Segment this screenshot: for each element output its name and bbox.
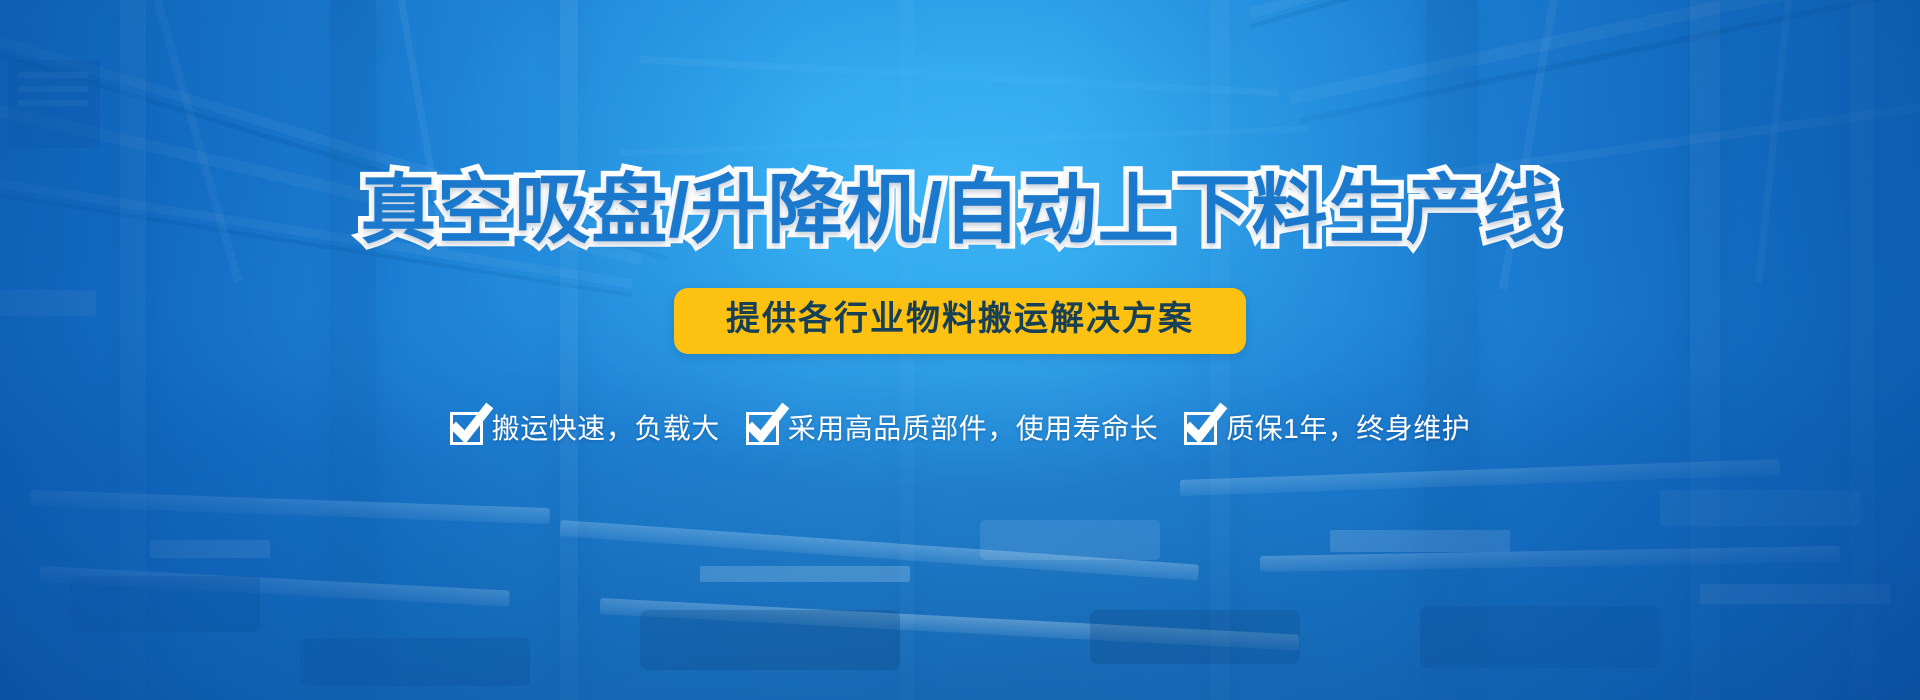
banner-content: 真空吸盘/升降机/自动上下料生产线 提供各行业物料搬运解决方案 搬运快速，负载大 [0,0,1920,700]
banner-subtitle-pill: 提供各行业物料搬运解决方案 [674,288,1246,354]
feature-list: 搬运快速，负载大 采用高品质部件，使用寿命长 质保1年，终身维护 [0,412,1920,445]
feature-label: 搬运快速，负载大 [492,415,720,443]
banner-title: 真空吸盘/升降机/自动上下料生产线 [0,173,1920,249]
checkbox-check-icon [1184,412,1217,445]
banner-subtitle-wrap: 提供各行业物料搬运解决方案 [0,288,1920,354]
checkbox-check-icon [450,412,483,445]
feature-item-1: 搬运快速，负载大 [450,412,720,445]
feature-item-3: 质保1年，终身维护 [1184,412,1470,445]
checkbox-check-icon [746,412,779,445]
hero-banner: 真空吸盘/升降机/自动上下料生产线 提供各行业物料搬运解决方案 搬运快速，负载大 [0,0,1920,700]
feature-label: 质保1年，终身维护 [1226,415,1470,443]
feature-label: 采用高品质部件，使用寿命长 [788,415,1159,443]
feature-item-2: 采用高品质部件，使用寿命长 [746,412,1159,445]
